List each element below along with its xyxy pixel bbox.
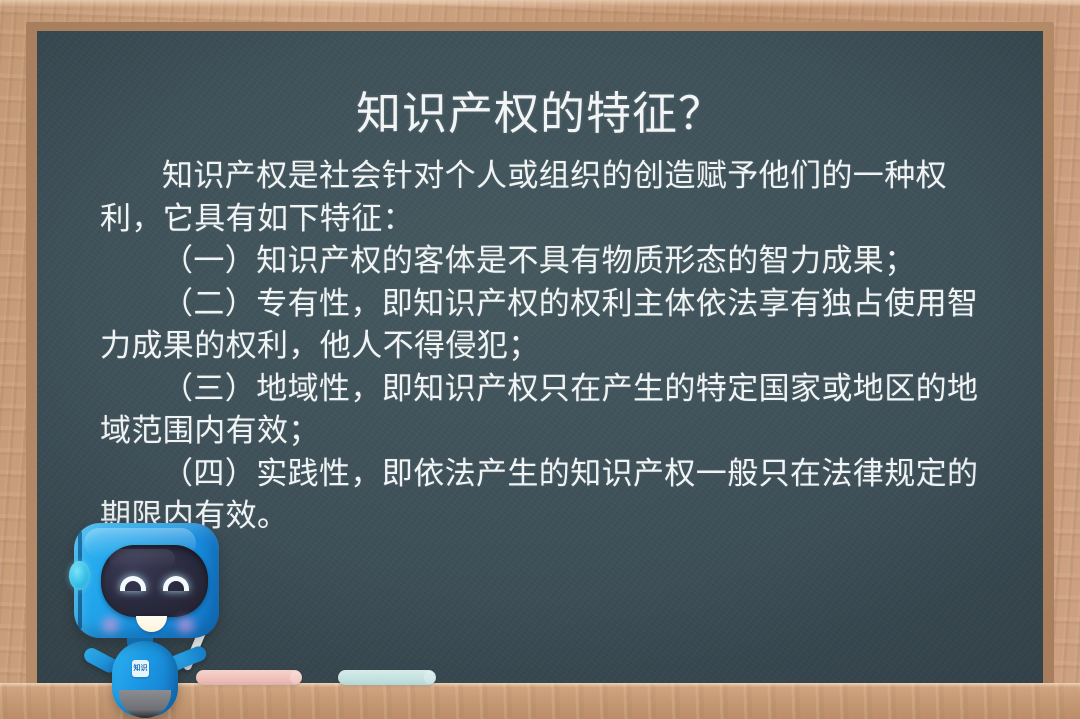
- paragraph-item-3: （三）地域性，即知识产权只在产生的特定国家或地区的地域范围内有效；: [100, 368, 990, 453]
- robot-head-group: [74, 523, 219, 638]
- robot-base: [119, 690, 171, 718]
- board-body-text: 知识产权是社会针对个人或组织的创造赋予他们的一种权利，它具有如下特征： （一）知…: [100, 155, 990, 538]
- page-title: 知识产权的特征？: [37, 87, 1043, 141]
- chalkboard-wooden-frame: 知识产权的特征？ 知识产权是社会针对个人或组织的创造赋予他们的一种权利，它具有如…: [0, 0, 1080, 719]
- robot-face-screen: [101, 545, 208, 617]
- robot-ear-icon: [69, 561, 90, 590]
- chalk-end-cap: [424, 671, 435, 684]
- paragraph-item-2: （二）专有性，即知识产权的权利主体依法享有独占使用智力成果的权利，他人不得侵犯；: [100, 283, 990, 368]
- chalk-stick-mint: [338, 670, 436, 685]
- robot-badge-label: 知识: [134, 665, 148, 673]
- robot-cheek-left: [95, 616, 126, 634]
- paragraph-item-1: （一）知识产权的客体是不具有物质形态的智力成果；: [100, 240, 990, 283]
- robot-mascot: 知识: [55, 523, 270, 719]
- chalk-end-cap: [290, 671, 301, 684]
- screen-sheen: [109, 549, 175, 569]
- robot-cheek-right: [170, 616, 201, 634]
- robot-eye-left-icon: [120, 576, 146, 591]
- robot-chest-badge: 知识: [132, 660, 149, 677]
- frame-top-highlight: [0, 0, 1080, 8]
- paragraph-intro: 知识产权是社会针对个人或组织的创造赋予他们的一种权利，它具有如下特征：: [100, 155, 990, 240]
- robot-eye-right-icon: [163, 576, 189, 591]
